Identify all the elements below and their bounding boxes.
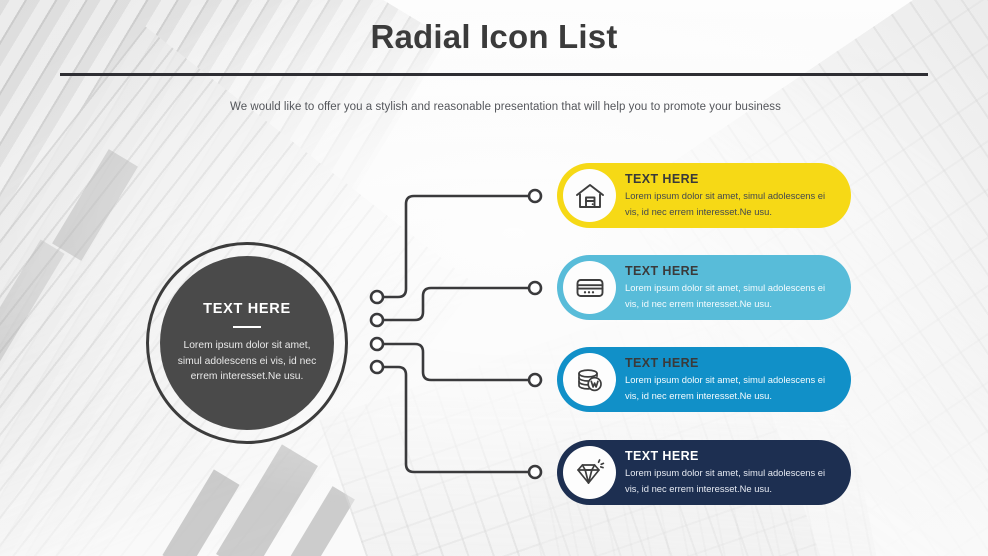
connector-node-left-2 xyxy=(371,314,383,326)
slide-canvas: Radial Icon List We would like to offer … xyxy=(0,0,988,556)
list-item-2-body: Lorem ipsum dolor sit amet, simul adoles… xyxy=(625,280,839,311)
list-item-1-title: TEXT HERE xyxy=(625,172,839,186)
list-item-1-body: Lorem ipsum dolor sit amet, simul adoles… xyxy=(625,188,839,219)
credit-card-icon xyxy=(563,261,616,314)
list-item-2-text: TEXT HERE Lorem ipsum dolor sit amet, si… xyxy=(625,264,851,311)
coin-stack-icon xyxy=(563,353,616,406)
connector-node-left-3 xyxy=(371,338,383,350)
list-item-4-title: TEXT HERE xyxy=(625,449,839,463)
list-item-4-text: TEXT HERE Lorem ipsum dolor sit amet, si… xyxy=(625,449,851,496)
connector-node-left-4 xyxy=(371,361,383,373)
list-item-2-title: TEXT HERE xyxy=(625,264,839,278)
connector-node-right-4 xyxy=(529,466,541,478)
list-item-4-body: Lorem ipsum dolor sit amet, simul adoles… xyxy=(625,465,839,496)
connector-node-left-1 xyxy=(371,291,383,303)
connector-node-right-3 xyxy=(529,374,541,386)
list-item-4[interactable]: TEXT HERE Lorem ipsum dolor sit amet, si… xyxy=(557,440,851,505)
list-item-3-body: Lorem ipsum dolor sit amet, simul adoles… xyxy=(625,372,839,403)
connector-right-nodes xyxy=(529,190,541,478)
connector-path-4 xyxy=(384,367,528,472)
list-item-2[interactable]: TEXT HERE Lorem ipsum dolor sit amet, si… xyxy=(557,255,851,320)
connector-left-nodes xyxy=(371,291,383,373)
diamond-icon xyxy=(563,446,616,499)
connector-node-right-2 xyxy=(529,282,541,294)
list-item-1-text: TEXT HERE Lorem ipsum dolor sit amet, si… xyxy=(625,172,851,219)
connector-node-right-1 xyxy=(529,190,541,202)
list-item-3-text: TEXT HERE Lorem ipsum dolor sit amet, si… xyxy=(625,356,851,403)
list-item-3-title: TEXT HERE xyxy=(625,356,839,370)
list-item-3[interactable]: TEXT HERE Lorem ipsum dolor sit amet, si… xyxy=(557,347,851,412)
connector-path-1 xyxy=(384,196,528,297)
list-item-1[interactable]: TEXT HERE Lorem ipsum dolor sit amet, si… xyxy=(557,163,851,228)
house-icon xyxy=(563,169,616,222)
